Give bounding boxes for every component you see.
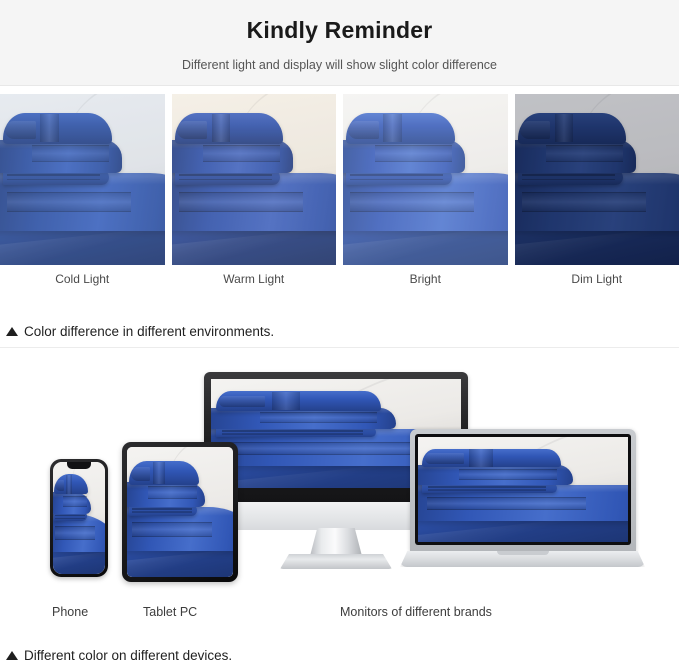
caption-devices: Different color on different devices. (6, 648, 232, 663)
light-sample-label: Dim Light (515, 272, 679, 286)
triangle-up-icon (6, 651, 18, 660)
light-sample-label: Cold Light (0, 272, 165, 286)
towel-photo-scene (172, 94, 337, 265)
towel-medium (418, 465, 573, 485)
monitor-stand-base (280, 554, 392, 569)
kindly-reminder-page: Kindly Reminder Different light and disp… (0, 0, 679, 665)
light-sample-warm-light[interactable] (172, 94, 337, 265)
laptop-lid (410, 429, 636, 552)
laptop-screen (418, 437, 628, 542)
towel-medium (211, 408, 396, 429)
towel-medium (53, 492, 91, 513)
device-comparison-group (0, 356, 679, 596)
towel-rolled (422, 449, 561, 468)
laptop-bezel (415, 434, 631, 545)
towel-photo-scene (515, 94, 679, 265)
device-label-monitor: Monitors of different brands (340, 605, 492, 619)
light-comparison-strip (0, 94, 679, 265)
phone-notch (67, 462, 91, 469)
lighting-tone-overlay (515, 94, 679, 265)
towel-photo-scene (53, 462, 105, 574)
caption-environments-text: Color difference in different environmen… (24, 324, 274, 339)
towel-rolled (129, 461, 199, 484)
light-sample-label: Warm Light (172, 272, 337, 286)
lighting-tone-overlay (0, 94, 165, 265)
light-sample-bright[interactable] (343, 94, 508, 265)
device-tablet (122, 442, 238, 582)
towel-photo-scene (343, 94, 508, 265)
device-phone (50, 459, 108, 577)
section-divider (0, 347, 679, 348)
towel-photo-scene (0, 94, 165, 265)
light-sample-cold-light[interactable] (0, 94, 165, 265)
light-comparison-labels: Cold LightWarm LightBrightDim Light (0, 272, 679, 286)
monitor-stand-neck (310, 528, 362, 556)
page-subtitle: Different light and display will show sl… (0, 44, 679, 72)
phone-screen (53, 462, 105, 574)
device-label-tablet: Tablet PC (143, 605, 197, 619)
device-laptop (400, 429, 645, 575)
light-sample-dim-light[interactable] (515, 94, 679, 265)
caption-devices-text: Different color on different devices. (24, 648, 232, 663)
light-sample-label: Bright (343, 272, 508, 286)
page-title: Kindly Reminder (0, 0, 679, 44)
towel-medium (127, 482, 205, 507)
laptop-hinge-notch (497, 551, 549, 555)
device-label-phone: Phone (52, 605, 88, 619)
tablet-screen (127, 447, 233, 577)
device-labels: Phone Tablet PC Monitors of different br… (0, 605, 679, 625)
towel-photo-scene (418, 437, 628, 542)
triangle-up-icon (6, 327, 18, 336)
lighting-tone-overlay (172, 94, 337, 265)
header-banner: Kindly Reminder Different light and disp… (0, 0, 679, 86)
towel-rolled (216, 391, 381, 411)
lighting-tone-overlay (343, 94, 508, 265)
caption-environments: Color difference in different environmen… (6, 324, 274, 339)
towel-photo-scene (127, 447, 233, 577)
